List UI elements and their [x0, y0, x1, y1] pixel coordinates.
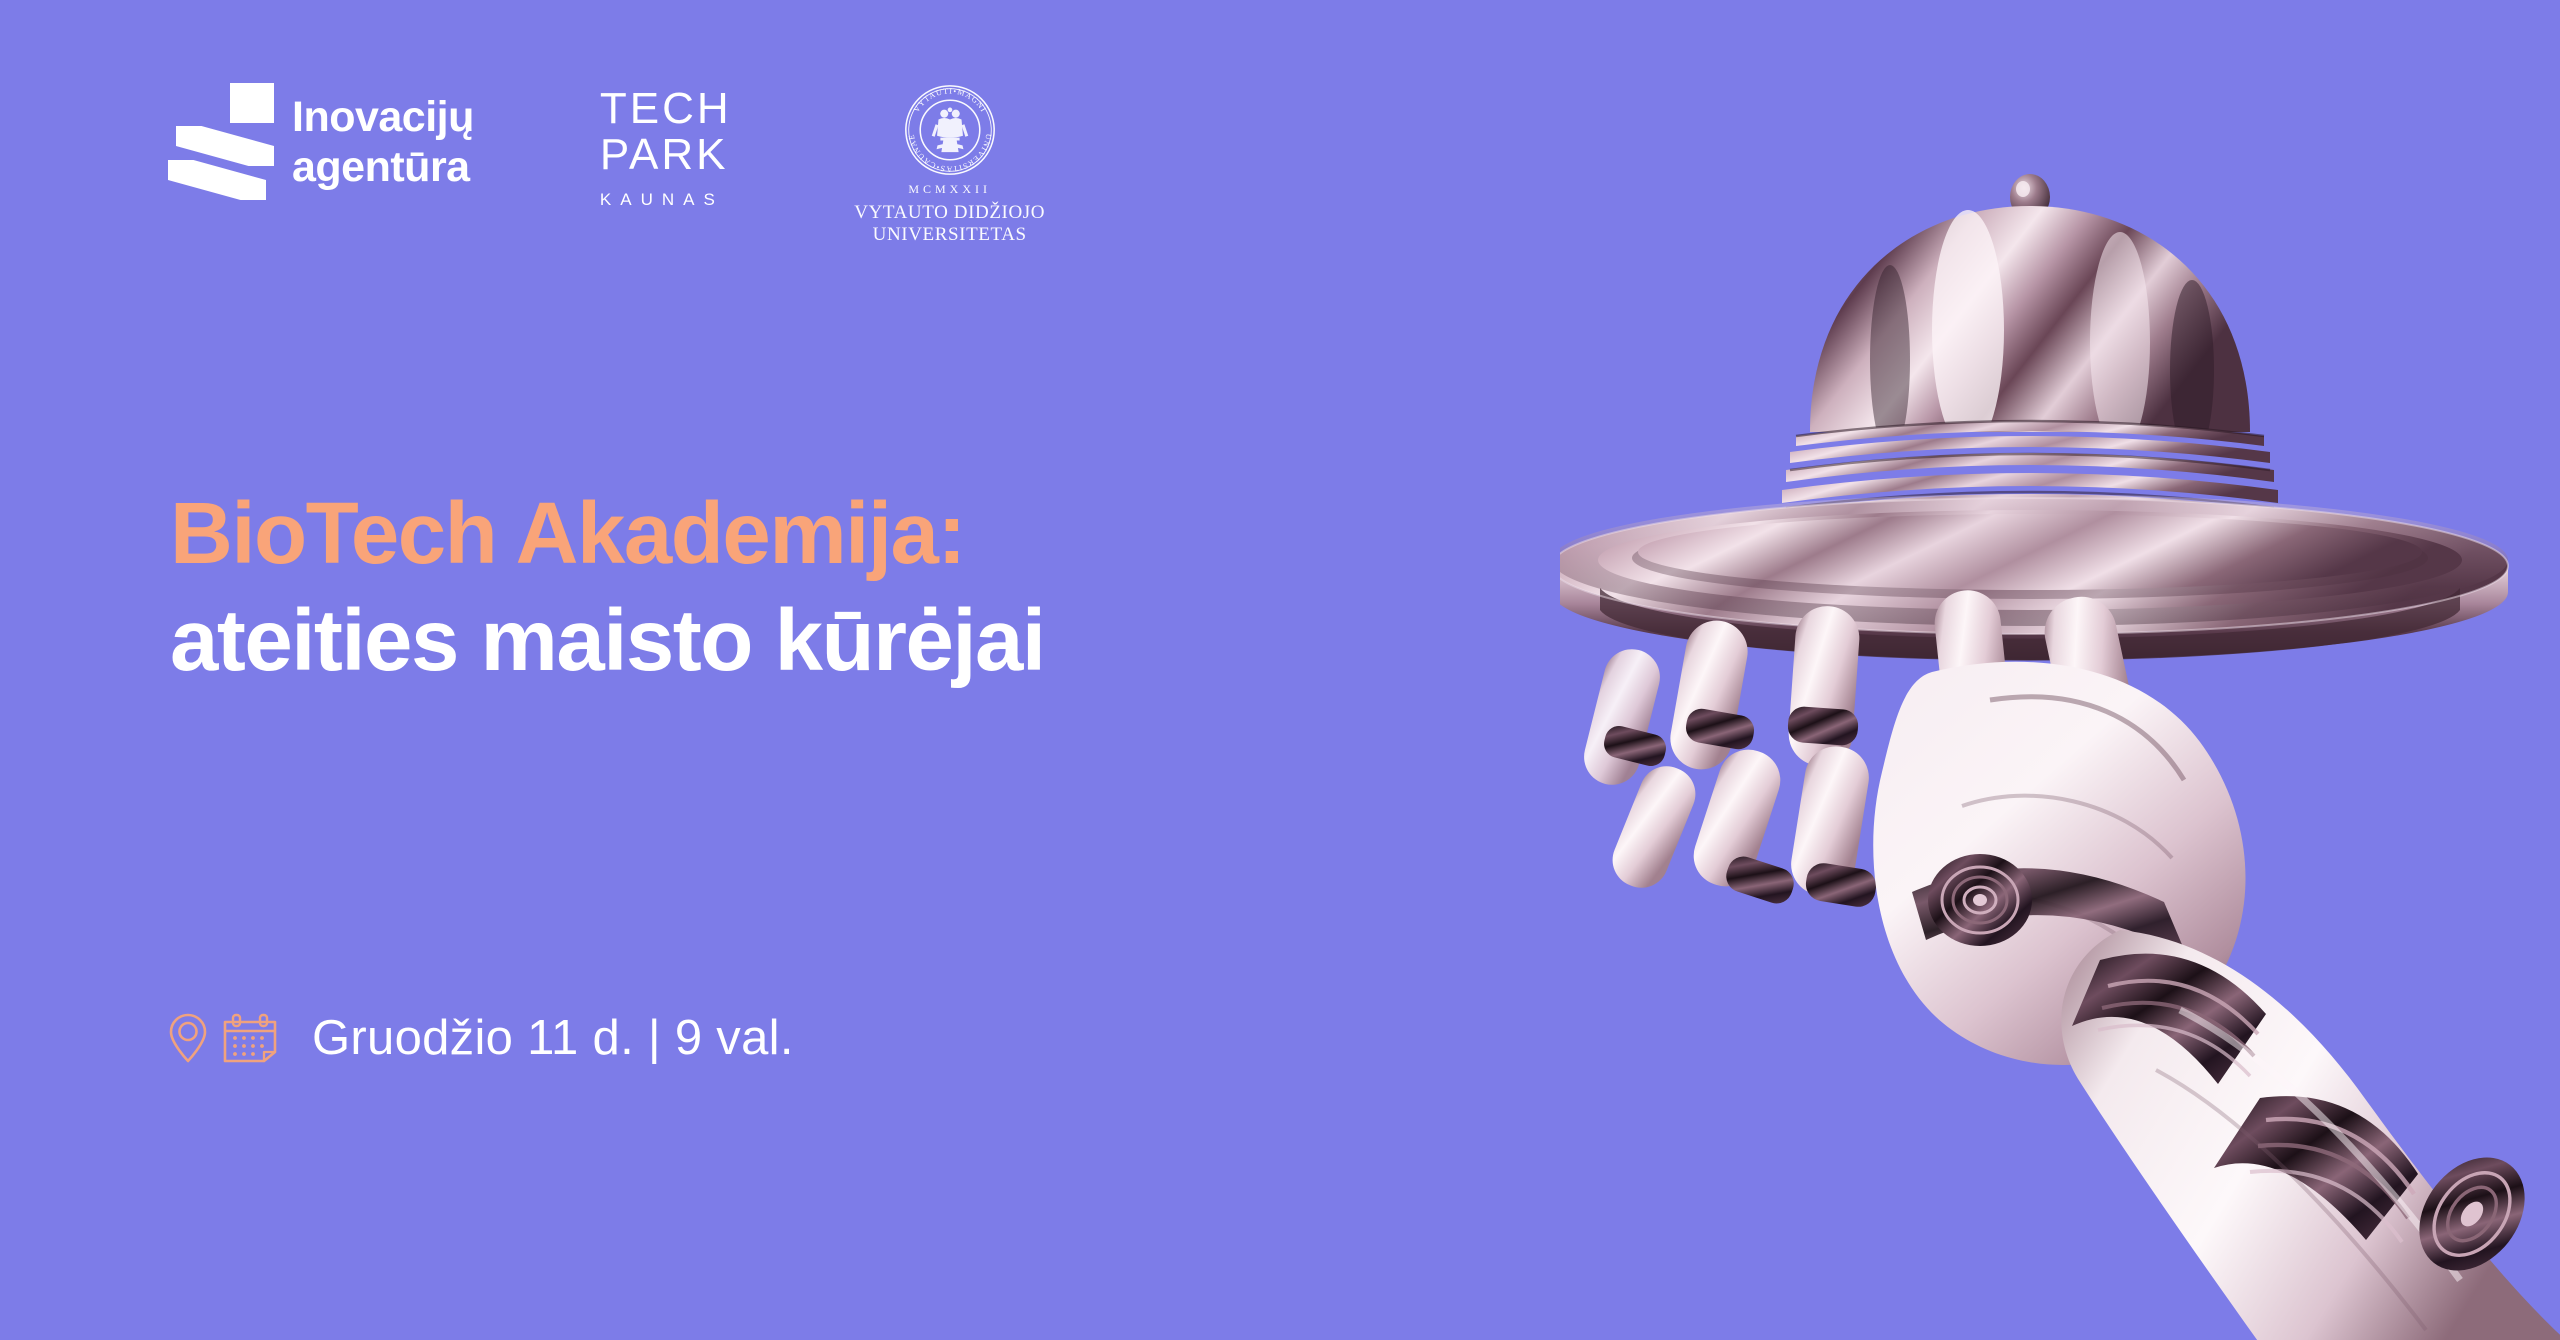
- robot-palm: [1873, 662, 2245, 1065]
- partner-logo-row: Inovacijų agentūra TECH PARK KAUNAS VYTA…: [168, 82, 1050, 246]
- forearm-vent: [2398, 1137, 2547, 1291]
- university-name-line2: UNIVERSITETAS: [850, 224, 1050, 246]
- tech-park-line-park: PARK: [600, 132, 732, 178]
- finger-ring: [1665, 616, 1797, 908]
- innovation-agency-mark-icon: [168, 83, 276, 201]
- calendar-icon: [222, 1012, 278, 1064]
- event-date-time-label: Gruodžio 11 d. | 9 val.: [312, 1010, 794, 1066]
- finger-little: [1578, 643, 1703, 896]
- university-seal-icon: VYTAUTI•MAGNI UNIVERSITAS•CAUNAE: [902, 82, 998, 178]
- robot-fingers: [1578, 587, 2142, 909]
- finger-thumb: [2015, 590, 2142, 896]
- cloche-collar: [1782, 421, 2278, 544]
- serving-tray: [1560, 494, 2508, 661]
- tech-park-line-tech: TECH: [600, 86, 732, 132]
- robot-forearm: [2061, 930, 2560, 1340]
- innovation-agency-logo[interactable]: Inovacijų agentūra: [168, 82, 474, 202]
- university-founding-year: MCMXXII: [850, 182, 1050, 197]
- finger-index: [1927, 587, 2015, 900]
- vytautas-magnus-university-logo[interactable]: VYTAUTI•MAGNI UNIVERSITAS•CAUNAE: [850, 82, 1050, 246]
- event-banner: Inovacijų agentūra TECH PARK KAUNAS VYTA…: [0, 0, 2560, 1340]
- event-date-row: Gruodžio 11 d. | 9 val.: [168, 1010, 794, 1066]
- university-name-line1: VYTAUTO DIDŽIOJO: [850, 202, 1050, 224]
- cloche-dome: [1782, 174, 2278, 544]
- finger-middle: [1786, 604, 1878, 909]
- headline-line-1: BioTech Akademija:: [170, 480, 1470, 587]
- innovation-agency-line1: Inovacijų: [292, 93, 474, 141]
- location-pin-icon: [168, 1012, 208, 1064]
- knuckle-joint: [1928, 854, 2032, 946]
- tech-park-kaunas-logo[interactable]: TECH PARK KAUNAS: [600, 82, 732, 210]
- tech-park-line-kaunas: KAUNAS: [600, 190, 732, 210]
- forearm-joint-band: [2214, 1096, 2418, 1242]
- headline-line-2: ateities maisto kūrėjai: [170, 587, 1470, 694]
- robot-hand-holding-cloche-tray: [1560, 0, 2560, 1340]
- innovation-agency-line2: agentūra: [292, 143, 470, 191]
- event-headline: BioTech Akademija: ateities maisto kūrėj…: [170, 480, 1470, 694]
- innovation-agency-wordmark: Inovacijų agentūra: [292, 92, 474, 192]
- wrist-joint-band: [2072, 954, 2266, 1084]
